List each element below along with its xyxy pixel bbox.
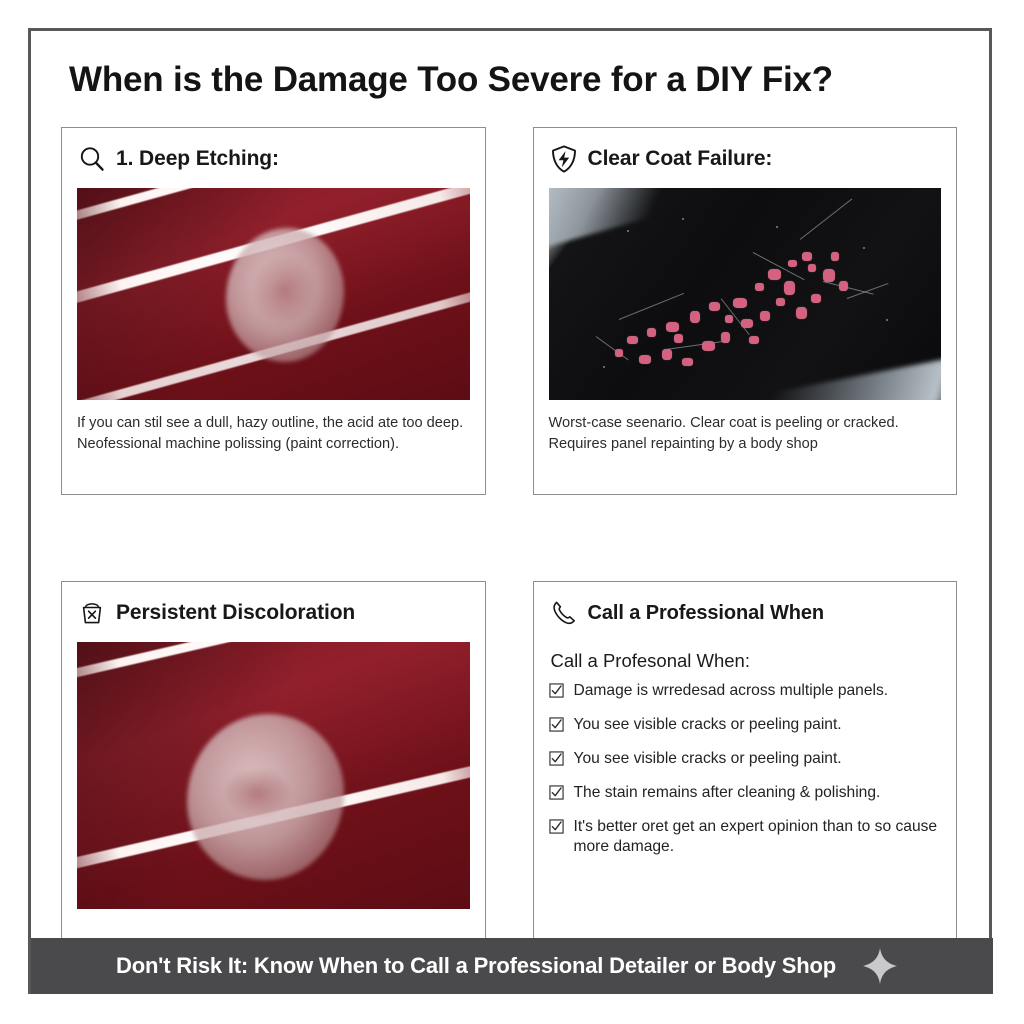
card-header: Persistent Discoloration: [77, 596, 470, 630]
list-item-label: The stain remains after cleaning & polis…: [574, 783, 881, 804]
checkbox-checked-icon[interactable]: [549, 683, 564, 698]
card-caption: If you can stil see a dull, hazy outline…: [77, 413, 470, 456]
card-persistent-discoloration: Persistent Discoloration: [61, 581, 486, 939]
list-item: The stain remains after cleaning & polis…: [549, 783, 942, 804]
list-item: You see visible cracks or peeling paint.: [549, 749, 942, 770]
card-caption: Worst-case seenario. Clear coat is peeli…: [549, 413, 942, 456]
paint-bucket-x-icon: [77, 598, 107, 628]
checkbox-checked-icon[interactable]: [549, 785, 564, 800]
card-header: Clear Coat Failure:: [549, 142, 942, 176]
checklist: Damage is wrredesad across multiple pane…: [549, 681, 942, 871]
banner-text: Don't Risk It: Know When to Call a Profe…: [116, 953, 836, 979]
card-title: Persistent Discoloration: [116, 601, 355, 625]
checkbox-checked-icon[interactable]: [549, 717, 564, 732]
list-item-label: Damage is wrredesad across multiple pane…: [574, 681, 889, 702]
checkbox-checked-icon[interactable]: [549, 819, 564, 834]
sparkle-icon: [862, 947, 898, 985]
photo-clear-coat-failure: [549, 188, 942, 400]
list-item: Damage is wrredesad across multiple pane…: [549, 681, 942, 702]
checkbox-checked-icon[interactable]: [549, 751, 564, 766]
card-grid: 1. Deep Etching: If you can stil see a d…: [31, 101, 989, 991]
card-header: 1. Deep Etching:: [77, 142, 470, 176]
list-item-label: You see visible cracks or peeling paint.: [574, 715, 842, 736]
card-call-a-professional: Call a Professional When Call a Profeson…: [533, 581, 958, 939]
card-title: Call a Professional When: [588, 602, 825, 625]
footer-banner: Don't Risk It: Know When to Call a Profe…: [31, 938, 993, 994]
shield-bolt-icon: [549, 144, 579, 174]
card-clear-coat-failure: Clear Coat Failure:: [533, 127, 958, 495]
phone-icon: [549, 598, 579, 628]
card-title: Clear Coat Failure:: [588, 147, 773, 171]
list-item: It's better oret get an expert opinion t…: [549, 817, 942, 859]
card-header: Call a Professional When: [549, 596, 942, 630]
poster-frame: When is the Damage Too Severe for a DIY …: [28, 28, 992, 994]
page-title: When is the Damage Too Severe for a DIY …: [31, 31, 989, 101]
magnifier-icon: [77, 144, 107, 174]
list-item-label: You see visible cracks or peeling paint.: [574, 749, 842, 770]
card-deep-etching: 1. Deep Etching: If you can stil see a d…: [61, 127, 486, 495]
list-item: You see visible cracks or peeling paint.: [549, 715, 942, 736]
list-item-label: It's better oret get an expert opinion t…: [574, 817, 942, 859]
checklist-heading: Call a Profesonal When:: [551, 650, 942, 672]
card-title: 1. Deep Etching:: [116, 147, 279, 171]
photo-deep-etching: [77, 188, 470, 400]
photo-persistent-discoloration: [77, 642, 470, 909]
